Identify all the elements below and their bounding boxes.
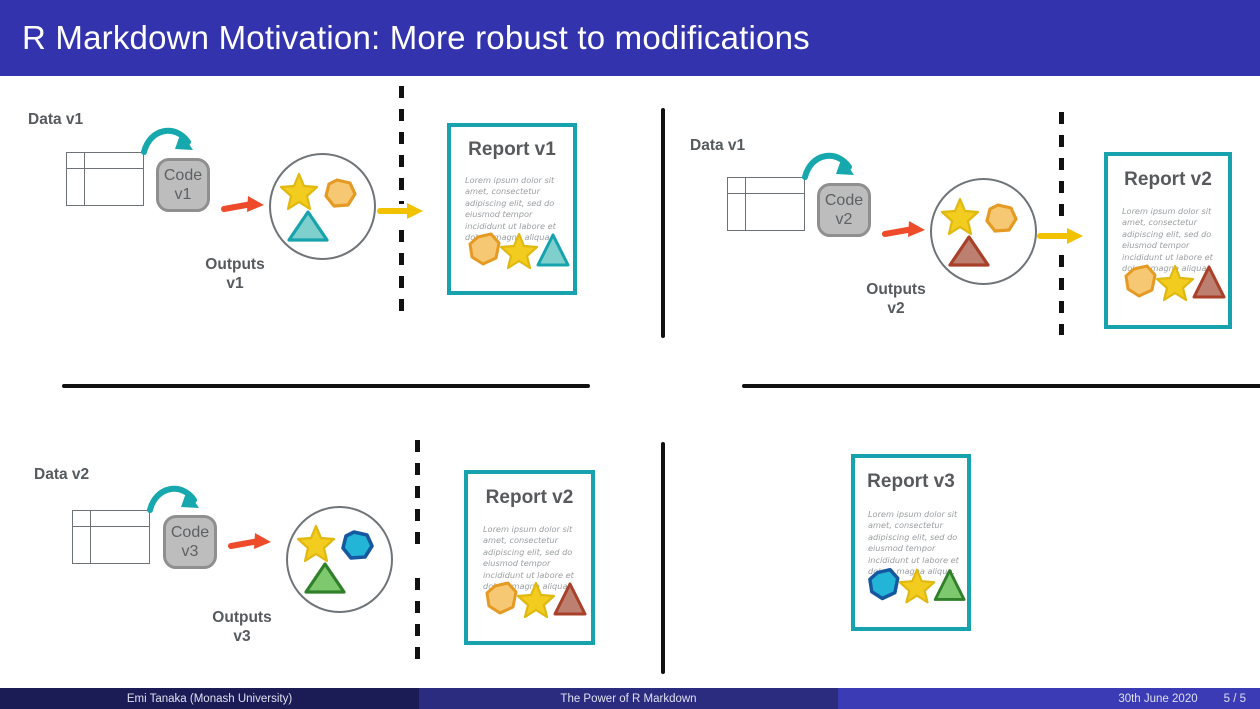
footer-date: 30th June 2020: [1118, 693, 1197, 705]
footer-talk-title: The Power of R Markdown: [419, 688, 838, 709]
dashed-divider-tr-lower: [1059, 255, 1064, 335]
dashed-divider-tl-upper: [399, 86, 404, 204]
divider-vertical-top: [661, 108, 665, 338]
report-card-tr: Report v2 Lorem ipsum dolor sit amet, co…: [1104, 152, 1232, 329]
report-title-bl: Report v2: [468, 487, 591, 509]
slide-canvas: R Markdown Motivation: More robust to mo…: [0, 0, 1260, 709]
data-table-icon-tl: [66, 152, 144, 206]
yellow-arrow-tr: [1038, 225, 1086, 247]
outputs-shapes-bl: [300, 524, 382, 598]
report-card-br: Report v3 Lorem ipsum dolor sit amet, co…: [851, 454, 971, 631]
outputs-shapes-tr: [944, 197, 1026, 271]
yellow-arrow-tl: [378, 200, 426, 222]
code-box-bl: Code v3: [163, 515, 217, 569]
report-title-tr: Report v2: [1108, 169, 1228, 191]
dashed-divider-bl-upper: [415, 440, 420, 550]
code-box-label-line1: Code: [171, 523, 209, 542]
report-shapes-tl: [466, 231, 570, 271]
data-label-tl: Data v1: [28, 110, 83, 129]
slide-footer: Emi Tanaka (Monash University) The Power…: [0, 688, 1260, 709]
outputs-label-tr: Outputs v2: [837, 280, 955, 318]
code-box-label-line1: Code: [164, 166, 202, 185]
divider-vertical-bottom: [661, 442, 665, 674]
report-card-tl: Report v1 Lorem ipsum dolor sit amet, co…: [447, 123, 577, 295]
footer-right-group: 30th June 2020 5 / 5: [838, 688, 1260, 709]
report-card-bl: Report v2 Lorem ipsum dolor sit amet, co…: [464, 470, 595, 645]
code-box-label-line2: v1: [175, 185, 192, 204]
code-box-label-line1: Code: [825, 191, 863, 210]
footer-author: Emi Tanaka (Monash University): [0, 688, 419, 709]
code-box-label-line2: v3: [182, 542, 199, 561]
red-arrow-tl: [222, 195, 268, 217]
outputs-shapes-tl: [283, 172, 365, 246]
dashed-divider-tl-lower: [399, 230, 404, 318]
report-title-br: Report v3: [855, 471, 967, 493]
data-label-tr: Data v1: [690, 136, 745, 155]
page-title: R Markdown Motivation: More robust to mo…: [22, 19, 810, 57]
code-box-tl: Code v1: [156, 158, 210, 212]
data-table-icon-tr: [727, 177, 805, 231]
divider-horizontal-right: [742, 384, 1260, 388]
outputs-label-bl: Outputs v3: [183, 608, 301, 646]
report-shapes-tr: [1122, 263, 1226, 303]
dashed-divider-tr-upper: [1059, 112, 1064, 222]
divider-horizontal-left: [62, 384, 590, 388]
data-label-bl: Data v2: [34, 465, 89, 484]
slide-title-bar: R Markdown Motivation: More robust to mo…: [0, 0, 1260, 76]
outputs-label-tl: Outputs v1: [176, 255, 294, 293]
data-table-icon-bl: [72, 510, 150, 564]
report-title-tl: Report v1: [451, 139, 573, 161]
report-shapes-bl: [483, 580, 587, 620]
code-box-label-line2: v2: [836, 210, 853, 229]
footer-page-number: 5 / 5: [1224, 693, 1246, 705]
red-arrow-bl: [229, 532, 275, 554]
red-arrow-tr: [883, 220, 929, 242]
dashed-divider-bl-lower: [415, 578, 420, 664]
report-shapes-br: [866, 566, 966, 606]
code-box-tr: Code v2: [817, 183, 871, 237]
